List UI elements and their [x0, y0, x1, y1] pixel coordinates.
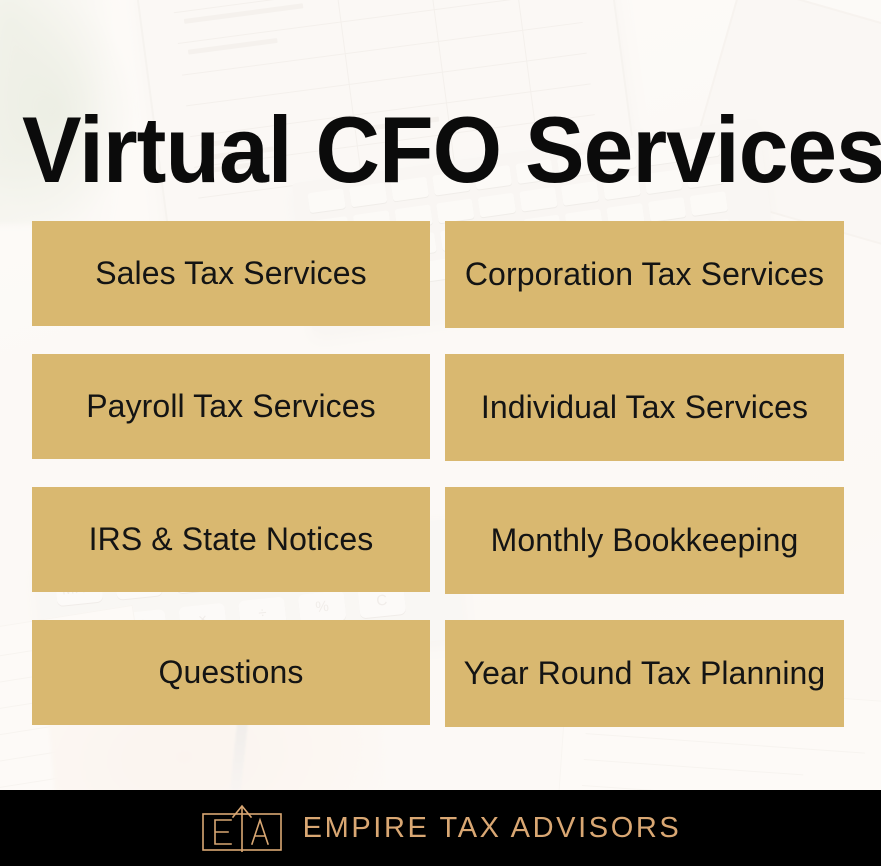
service-tile-corporation-tax[interactable]: Corporation Tax Services	[445, 221, 844, 328]
poster-canvas: MRC 9 + − M+ = 7 8 × ÷ % C	[0, 0, 881, 866]
service-tile-year-round-tax-planning[interactable]: Year Round Tax Planning	[445, 620, 844, 727]
footer-wordmark: EMPIRE TAX ADVISORS	[303, 814, 682, 843]
service-tile-payroll-tax[interactable]: Payroll Tax Services	[32, 354, 430, 459]
poster-content: Virtual CFO Services Sales Tax Services …	[0, 0, 881, 866]
service-tile-individual-tax[interactable]: Individual Tax Services	[445, 354, 844, 461]
service-tile-label: Sales Tax Services	[95, 255, 367, 292]
service-tile-monthly-bookkeeping[interactable]: Monthly Bookkeeping	[445, 487, 844, 594]
footer-brand-bar: EMPIRE TAX ADVISORS	[0, 790, 881, 866]
service-tile-label: Corporation Tax Services	[465, 256, 824, 293]
services-grid: Sales Tax Services Corporation Tax Servi…	[32, 221, 844, 727]
service-tile-label: Individual Tax Services	[481, 389, 808, 426]
service-tile-label: IRS & State Notices	[89, 521, 374, 558]
service-tile-label: Payroll Tax Services	[86, 388, 376, 425]
service-tile-label: Monthly Bookkeeping	[491, 522, 799, 559]
page-title: Virtual CFO Services	[22, 103, 859, 197]
service-tile-irs-state-notices[interactable]: IRS & State Notices	[32, 487, 430, 592]
service-tile-label: Questions	[159, 654, 304, 691]
service-tile-questions[interactable]: Questions	[32, 620, 430, 725]
service-tile-sales-tax[interactable]: Sales Tax Services	[32, 221, 430, 326]
service-tile-label: Year Round Tax Planning	[464, 655, 826, 692]
empire-tax-advisors-logo-icon	[200, 803, 284, 853]
